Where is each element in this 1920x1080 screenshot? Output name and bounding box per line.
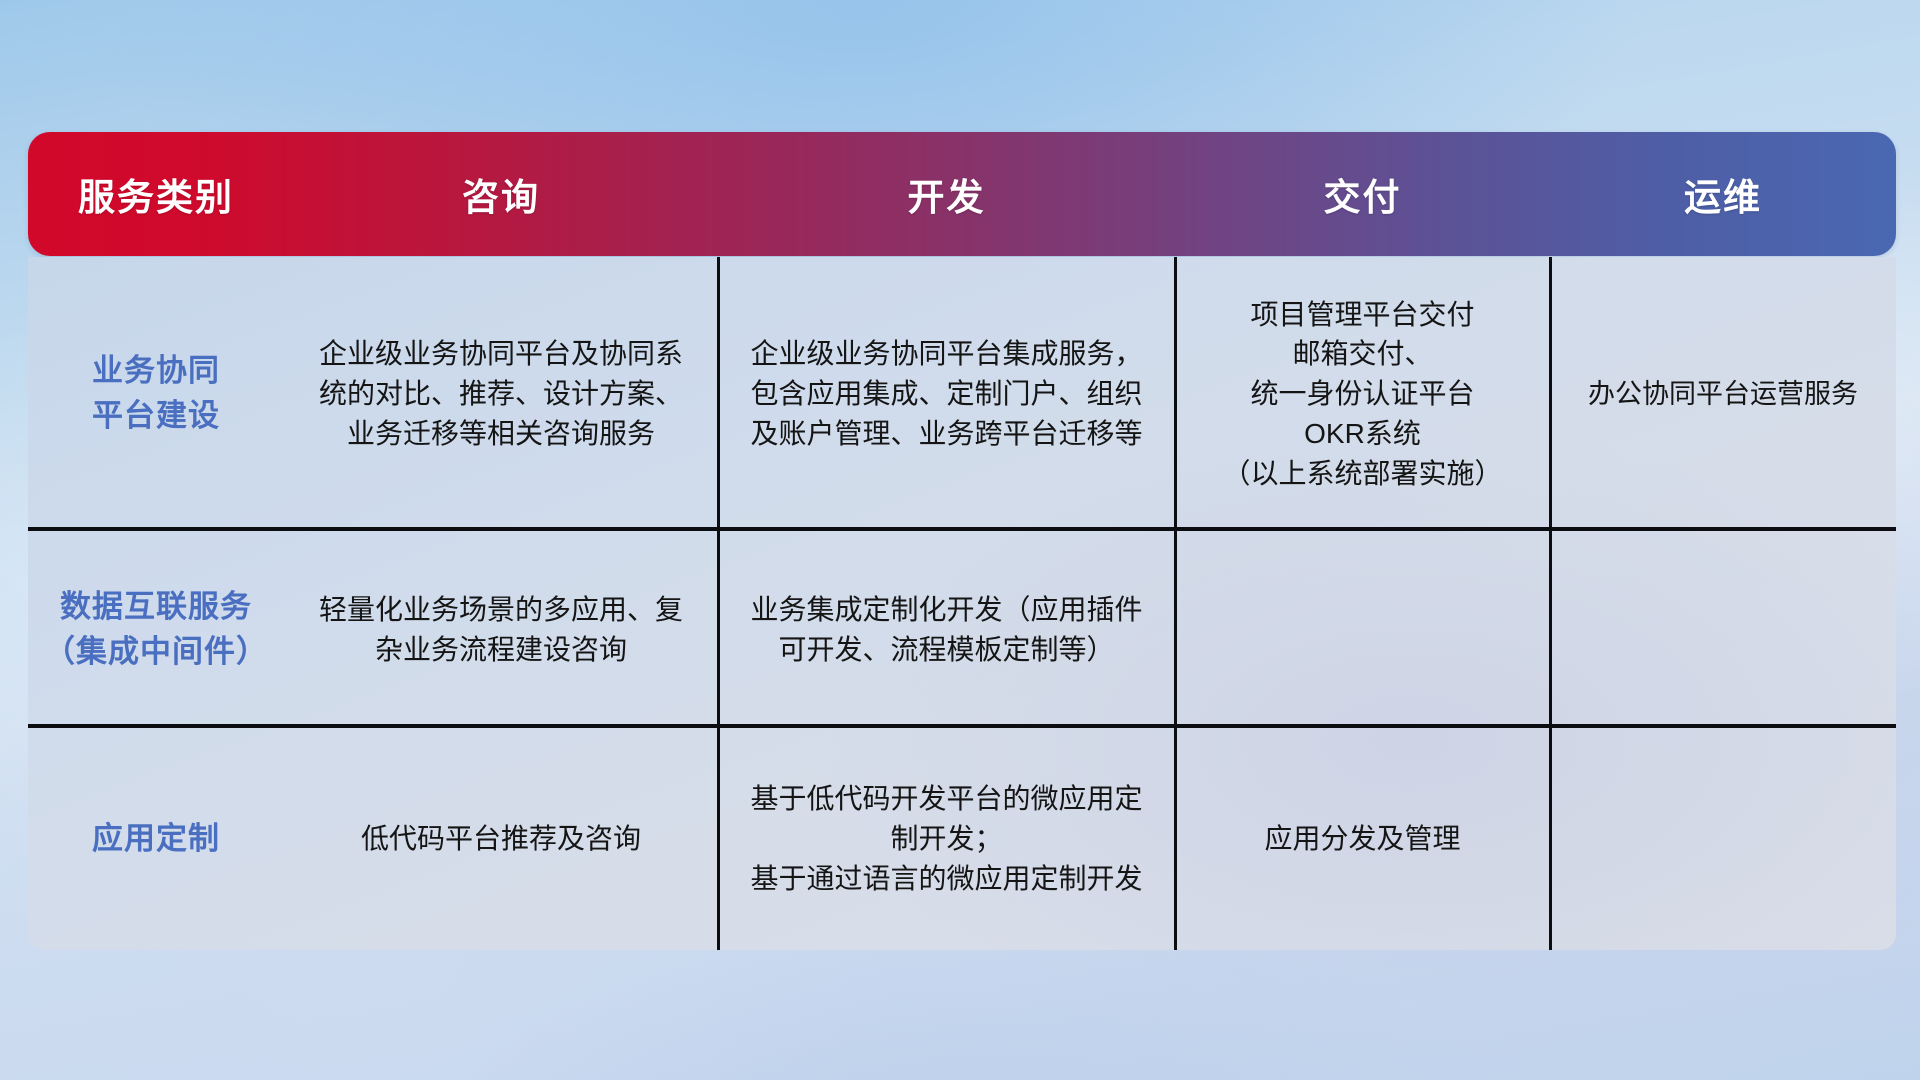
table-cell-operations [1550,728,1896,950]
table-row: 数据互联服务 （集成中间件） 轻量化业务场景的多应用、复 杂业务流程建设咨询 业… [28,531,1896,728]
category-label: 数据互联服务 （集成中间件） [44,585,268,675]
cell-text: 企业级业务协同平台及协同系 统的对比、推荐、设计方案、 业务迁移等相关咨询服务 [319,334,683,453]
cell-text: 基于低代码开发平台的微应用定 制开发； 基于通过语言的微应用定制开发 [750,779,1142,898]
table-cell-consulting: 低代码平台推荐及咨询 [284,728,718,950]
column-header-category: 服务类别 [28,167,284,221]
cell-text: 办公协同平台运营服务 [1588,375,1858,413]
table-cell-development: 企业级业务协同平台集成服务， 包含应用集成、定制门户、组织 及账户管理、业务跨平… [718,257,1175,531]
table-cell-consulting: 轻量化业务场景的多应用、复 杂业务流程建设咨询 [284,531,718,728]
table-row: 应用定制 低代码平台推荐及咨询 基于低代码开发平台的微应用定 制开发； 基于通过… [28,728,1896,950]
table-cell-operations [1550,531,1896,728]
column-header-operations: 运维 [1550,167,1896,221]
column-header-development: 开发 [718,167,1175,221]
table-cell-delivery: 项目管理平台交付 邮箱交付、 统一身份认证平台 OKR系统 （以上系统部署实施） [1175,257,1550,531]
table-cell-category: 数据互联服务 （集成中间件） [28,531,284,728]
cell-text: 应用分发及管理 [1264,819,1460,859]
cell-text: 业务集成定制化开发（应用插件 可开发、流程模板定制等） [750,590,1142,670]
table-cell-consulting: 企业级业务协同平台及协同系 统的对比、推荐、设计方案、 业务迁移等相关咨询服务 [284,257,718,531]
cell-text: 项目管理平台交付 邮箱交付、 统一身份认证平台 OKR系统 （以上系统部署实施） [1222,295,1502,494]
cell-text: 低代码平台推荐及咨询 [361,819,641,859]
category-label: 业务协同 平台建设 [92,349,220,439]
table-cell-operations: 办公协同平台运营服务 [1550,257,1896,531]
table-cell-delivery: 应用分发及管理 [1175,728,1550,950]
column-header-delivery: 交付 [1175,167,1550,221]
table-body: 业务协同 平台建设 企业级业务协同平台及协同系 统的对比、推荐、设计方案、 业务… [28,257,1896,950]
table-cell-category: 业务协同 平台建设 [28,257,284,531]
column-header-consulting: 咨询 [284,167,718,221]
table-row: 业务协同 平台建设 企业级业务协同平台及协同系 统的对比、推荐、设计方案、 业务… [28,257,1896,531]
table-header-row: 服务类别 咨询 开发 交付 运维 [28,132,1896,256]
cell-text: 轻量化业务场景的多应用、复 杂业务流程建设咨询 [319,590,683,670]
table-cell-development: 业务集成定制化开发（应用插件 可开发、流程模板定制等） [718,531,1175,728]
service-category-table: 服务类别 咨询 开发 交付 运维 业务协同 平台建设 企业级业务协同平台及协同系… [28,132,1896,950]
table-cell-delivery [1175,531,1550,728]
table-cell-development: 基于低代码开发平台的微应用定 制开发； 基于通过语言的微应用定制开发 [718,728,1175,950]
category-label: 应用定制 [92,817,220,862]
cell-text: 企业级业务协同平台集成服务， 包含应用集成、定制门户、组织 及账户管理、业务跨平… [750,334,1142,453]
table-cell-category: 应用定制 [28,728,284,950]
